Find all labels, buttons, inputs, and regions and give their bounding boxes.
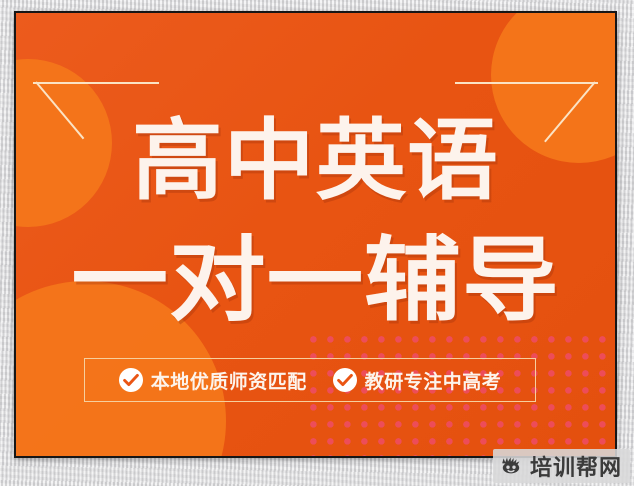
check-circle-icon <box>333 368 357 392</box>
feature-item-2: 教研专注中高考 <box>333 367 502 394</box>
decorative-line-top-left-horizontal <box>33 82 159 84</box>
feature-item-1: 本地优质师资匹配 <box>119 367 307 394</box>
feature-strip: 本地优质师资匹配 教研专注中高考 <box>84 358 536 402</box>
sun-face-icon <box>499 454 523 478</box>
check-circle-icon <box>119 368 143 392</box>
poster-content: 高中英语 一对一辅导 本地优质师资匹配 <box>16 13 615 456</box>
headline-line-2: 一对一辅导 <box>16 235 615 327</box>
headline-line-1: 高中英语 <box>16 117 615 205</box>
page-background: 高中英语 一对一辅导 本地优质师资匹配 <box>0 0 634 486</box>
site-watermark: 培训帮网 <box>493 449 630 483</box>
feature-label-2: 教研专注中高考 <box>365 367 502 394</box>
feature-label-1: 本地优质师资匹配 <box>151 367 307 394</box>
promo-poster-card: 高中英语 一对一辅导 本地优质师资匹配 <box>14 11 617 458</box>
decorative-line-top-right-horizontal <box>455 82 598 84</box>
watermark-label: 培训帮网 <box>530 450 622 482</box>
